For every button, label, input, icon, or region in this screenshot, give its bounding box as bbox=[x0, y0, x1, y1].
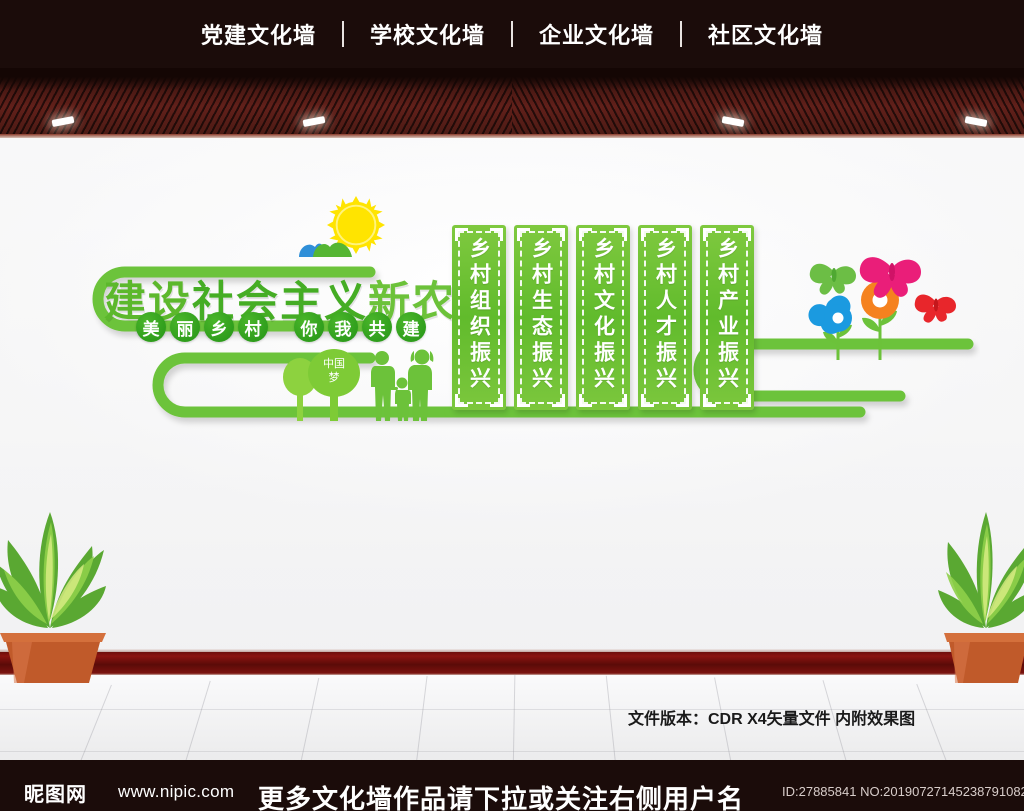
flowers-butterflies-decoration bbox=[800, 252, 965, 367]
panel-corner-icon bbox=[641, 394, 654, 407]
panel-corner-icon bbox=[517, 228, 530, 241]
panel-corner-icon bbox=[490, 394, 503, 407]
nav-item-community-culture-wall[interactable]: 社区文化墙 bbox=[682, 18, 849, 50]
flower-blue-icon bbox=[808, 295, 852, 333]
potted-plant-left bbox=[0, 478, 114, 683]
panel-corner-icon bbox=[579, 228, 592, 241]
nav-item-enterprise-culture-wall[interactable]: 企业文化墙 bbox=[513, 18, 680, 50]
panel-corner-icon bbox=[517, 394, 530, 407]
subtitle-badge: 你 bbox=[294, 312, 324, 342]
slogan-panel-group: 乡村组织振兴 乡村生态振兴 乡村文化振兴 乡村人才振兴 bbox=[452, 225, 754, 410]
panel-corner-icon bbox=[614, 228, 627, 241]
potted-plant-right bbox=[938, 478, 1024, 683]
panel-label: 乡村生态振兴 bbox=[531, 237, 552, 393]
ceiling-light-icon bbox=[303, 116, 326, 127]
panel-label: 乡村文化振兴 bbox=[593, 237, 614, 393]
panel-corner-icon bbox=[552, 228, 565, 241]
panel-corner-icon bbox=[455, 394, 468, 407]
nav-item-party-culture-wall[interactable]: 党建文化墙 bbox=[175, 18, 342, 50]
panel-corner-icon bbox=[676, 228, 689, 241]
tree-seal-text-2: 梦 bbox=[329, 371, 340, 384]
file-version-note: 文件版本：CDR X4矢量文件 内附效果图 bbox=[628, 705, 915, 729]
slogan-panel-industry[interactable]: 乡村产业振兴 bbox=[700, 225, 754, 410]
plant-leaves-icon bbox=[938, 512, 1024, 628]
panel-corner-icon bbox=[703, 394, 716, 407]
nav-item-school-culture-wall[interactable]: 学校文化墙 bbox=[344, 18, 511, 50]
panel-label: 乡村产业振兴 bbox=[717, 237, 738, 393]
subtitle-badge: 村 bbox=[238, 312, 268, 342]
panel-label: 乡村组织振兴 bbox=[469, 237, 490, 393]
flower-pot-icon bbox=[0, 633, 106, 683]
subtitle-badge: 我 bbox=[328, 312, 358, 342]
screenshot-root: 党建文化墙 学校文化墙 企业文化墙 社区文化墙 bbox=[0, 0, 1024, 811]
panel-corner-icon bbox=[552, 394, 565, 407]
hill-cloud-icon bbox=[297, 233, 359, 259]
butterfly-green-icon bbox=[810, 264, 856, 295]
ceiling bbox=[0, 68, 1024, 138]
slogan-panel-ecology[interactable]: 乡村生态振兴 bbox=[514, 225, 568, 410]
ceiling-light-icon bbox=[52, 116, 75, 127]
top-navigation-items: 党建文化墙 学校文化墙 企业文化墙 社区文化墙 bbox=[175, 18, 849, 50]
panel-corner-icon bbox=[490, 228, 503, 241]
butterfly-red-icon bbox=[915, 294, 956, 322]
watermark-url[interactable]: www.nipic.com bbox=[118, 782, 234, 802]
panel-corner-icon bbox=[455, 228, 468, 241]
panel-corner-icon bbox=[738, 228, 751, 241]
subtitle-badge: 美 bbox=[136, 312, 166, 342]
subtitle-badge: 建 bbox=[396, 312, 426, 342]
baseboard bbox=[0, 652, 1024, 675]
subtitle-badge: 乡 bbox=[204, 312, 234, 342]
village-scene-illustration: 中国 梦 bbox=[278, 345, 453, 430]
tree-seal-text-1: 中国 bbox=[323, 357, 345, 370]
watermark-brand-cn: 昵图网 bbox=[24, 778, 87, 807]
subtitle-badge: 共 bbox=[362, 312, 392, 342]
slogan-panel-organization[interactable]: 乡村组织振兴 bbox=[452, 225, 506, 410]
flower-pot-icon bbox=[944, 633, 1024, 683]
top-navigation-bar: 党建文化墙 学校文化墙 企业文化墙 社区文化墙 bbox=[0, 0, 1024, 68]
subtitle-row: 美 丽 乡 村 你 我 共 建 bbox=[136, 312, 426, 342]
panel-corner-icon bbox=[641, 228, 654, 241]
panel-corner-icon bbox=[579, 394, 592, 407]
panel-corner-icon bbox=[614, 394, 627, 407]
plant-leaves-icon bbox=[0, 512, 106, 628]
family-silhouette-icon bbox=[371, 350, 433, 422]
slogan-panel-culture[interactable]: 乡村文化振兴 bbox=[576, 225, 630, 410]
panel-corner-icon bbox=[738, 394, 751, 407]
panel-label: 乡村人才振兴 bbox=[655, 237, 676, 393]
asset-id-text: ID:27885841 NO:20190727145238791082 bbox=[782, 784, 1024, 799]
slogan-panel-talent[interactable]: 乡村人才振兴 bbox=[638, 225, 692, 410]
panel-corner-icon bbox=[703, 228, 716, 241]
panel-corner-icon bbox=[676, 394, 689, 407]
subtitle-badge: 丽 bbox=[170, 312, 200, 342]
ceiling-shadow bbox=[0, 68, 1024, 90]
promo-text: 更多文化墙作品请下拉或关注右侧用户名 bbox=[258, 779, 744, 811]
